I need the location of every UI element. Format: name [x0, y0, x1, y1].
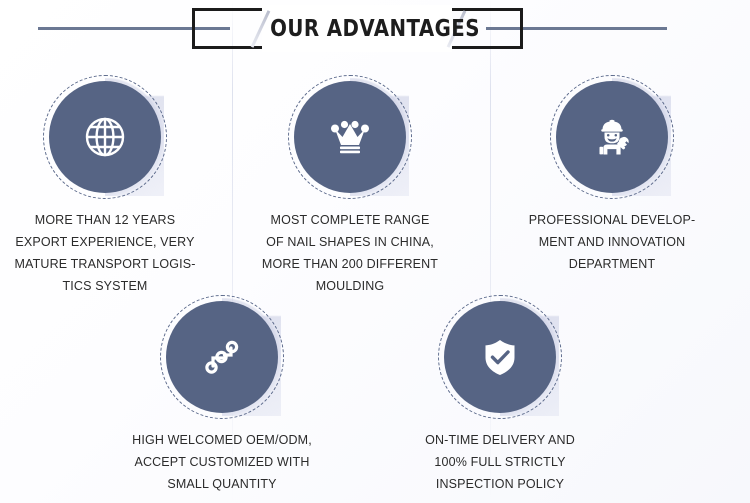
- crown-icon: [326, 113, 374, 161]
- icon-circle: [294, 81, 406, 193]
- advantage-text-line: PROFESSIONAL DEVELOP-: [496, 209, 728, 231]
- advantage-card-product-range: MOST COMPLETE RANGE OF NAIL SHAPES IN CH…: [234, 70, 466, 297]
- advantage-text-line: SMALL QUANTITY: [106, 473, 338, 495]
- advantage-text-line: OF NAIL SHAPES IN CHINA,: [234, 231, 466, 253]
- advantage-text: PROFESSIONAL DEVELOP- MENT AND INNOVATIO…: [496, 209, 728, 275]
- icon-badge: [106, 290, 338, 425]
- icon-circle: [166, 301, 278, 413]
- advantage-text-line: INSPECTION POLICY: [384, 473, 616, 495]
- advantage-text-line: EXPORT EXPERIENCE, VERY: [0, 231, 221, 253]
- page-title: OUR ADVANTAGES: [53, 0, 698, 58]
- advantage-text-line: 100% FULL STRICTLY: [384, 451, 616, 473]
- icon-badge: [384, 290, 616, 425]
- advantage-text-line: DEPARTMENT: [496, 253, 728, 275]
- advantage-card-oem-odm: HIGH WELCOMED OEM/ODM, ACCEPT CUSTOMIZED…: [106, 290, 338, 495]
- advantage-text-line: ON-TIME DELIVERY AND: [384, 429, 616, 451]
- advantage-text-line: MORE THAN 200 DIFFERENT: [234, 253, 466, 275]
- advantage-text-line: MATURE TRANSPORT LOGIS-: [0, 253, 221, 275]
- advantage-text: MOST COMPLETE RANGE OF NAIL SHAPES IN CH…: [234, 209, 466, 297]
- advantage-text: MORE THAN 12 YEARS EXPORT EXPERIENCE, VE…: [0, 209, 221, 297]
- advantage-text-line: ACCEPT CUSTOMIZED WITH: [106, 451, 338, 473]
- icon-badge: [234, 70, 466, 205]
- advantage-text-line: MOST COMPLETE RANGE: [234, 209, 466, 231]
- icon-badge: [0, 70, 221, 205]
- advantages-banner: OUR ADVANTAGES: [0, 0, 750, 503]
- advantage-card-quality-delivery: ON-TIME DELIVERY AND 100% FULL STRICTLY …: [384, 290, 616, 495]
- worker-icon: [588, 113, 636, 161]
- advantage-text: HIGH WELCOMED OEM/ODM, ACCEPT CUSTOMIZED…: [106, 429, 338, 495]
- icon-circle: [444, 301, 556, 413]
- network-nodes-icon: [197, 332, 247, 382]
- icon-badge: [496, 70, 728, 205]
- advantage-card-global-export: MORE THAN 12 YEARS EXPORT EXPERIENCE, VE…: [0, 70, 221, 297]
- icon-circle: [49, 81, 161, 193]
- section-header: OUR ADVANTAGES: [0, 0, 750, 58]
- shield-check-icon: [477, 334, 523, 380]
- advantage-text-line: MORE THAN 12 YEARS: [0, 209, 221, 231]
- advantage-text-line: HIGH WELCOMED OEM/ODM,: [106, 429, 338, 451]
- advantage-card-rnd-department: PROFESSIONAL DEVELOP- MENT AND INNOVATIO…: [496, 70, 728, 275]
- icon-circle: [556, 81, 668, 193]
- advantage-text: ON-TIME DELIVERY AND 100% FULL STRICTLY …: [384, 429, 616, 495]
- advantage-text-line: MENT AND INNOVATION: [496, 231, 728, 253]
- globe-icon: [80, 112, 130, 162]
